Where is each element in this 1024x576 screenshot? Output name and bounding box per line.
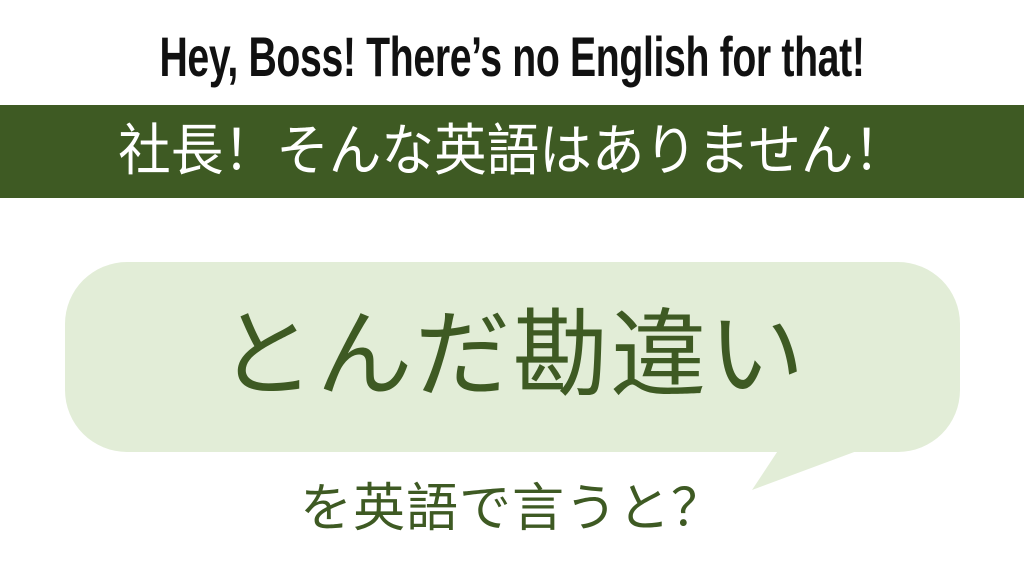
slide-canvas: Hey, Boss! There’s no English for that! … <box>0 0 1024 576</box>
caption-row: を英語で言うと？ <box>0 478 1024 540</box>
japanese-phrase-text: とんだ勘違い <box>219 307 807 403</box>
english-headline: Hey, Boss! There’s no English for that! <box>154 16 871 98</box>
japanese-title-banner: 社長！そんな英語はありません！ <box>0 105 1024 198</box>
speech-bubble-body: とんだ勘違い <box>65 262 960 452</box>
speech-bubble: とんだ勘違い <box>65 262 960 452</box>
caption-text: を英語で言うと？ <box>300 483 724 535</box>
japanese-title-text: 社長！そんな英語はありません！ <box>118 124 906 180</box>
